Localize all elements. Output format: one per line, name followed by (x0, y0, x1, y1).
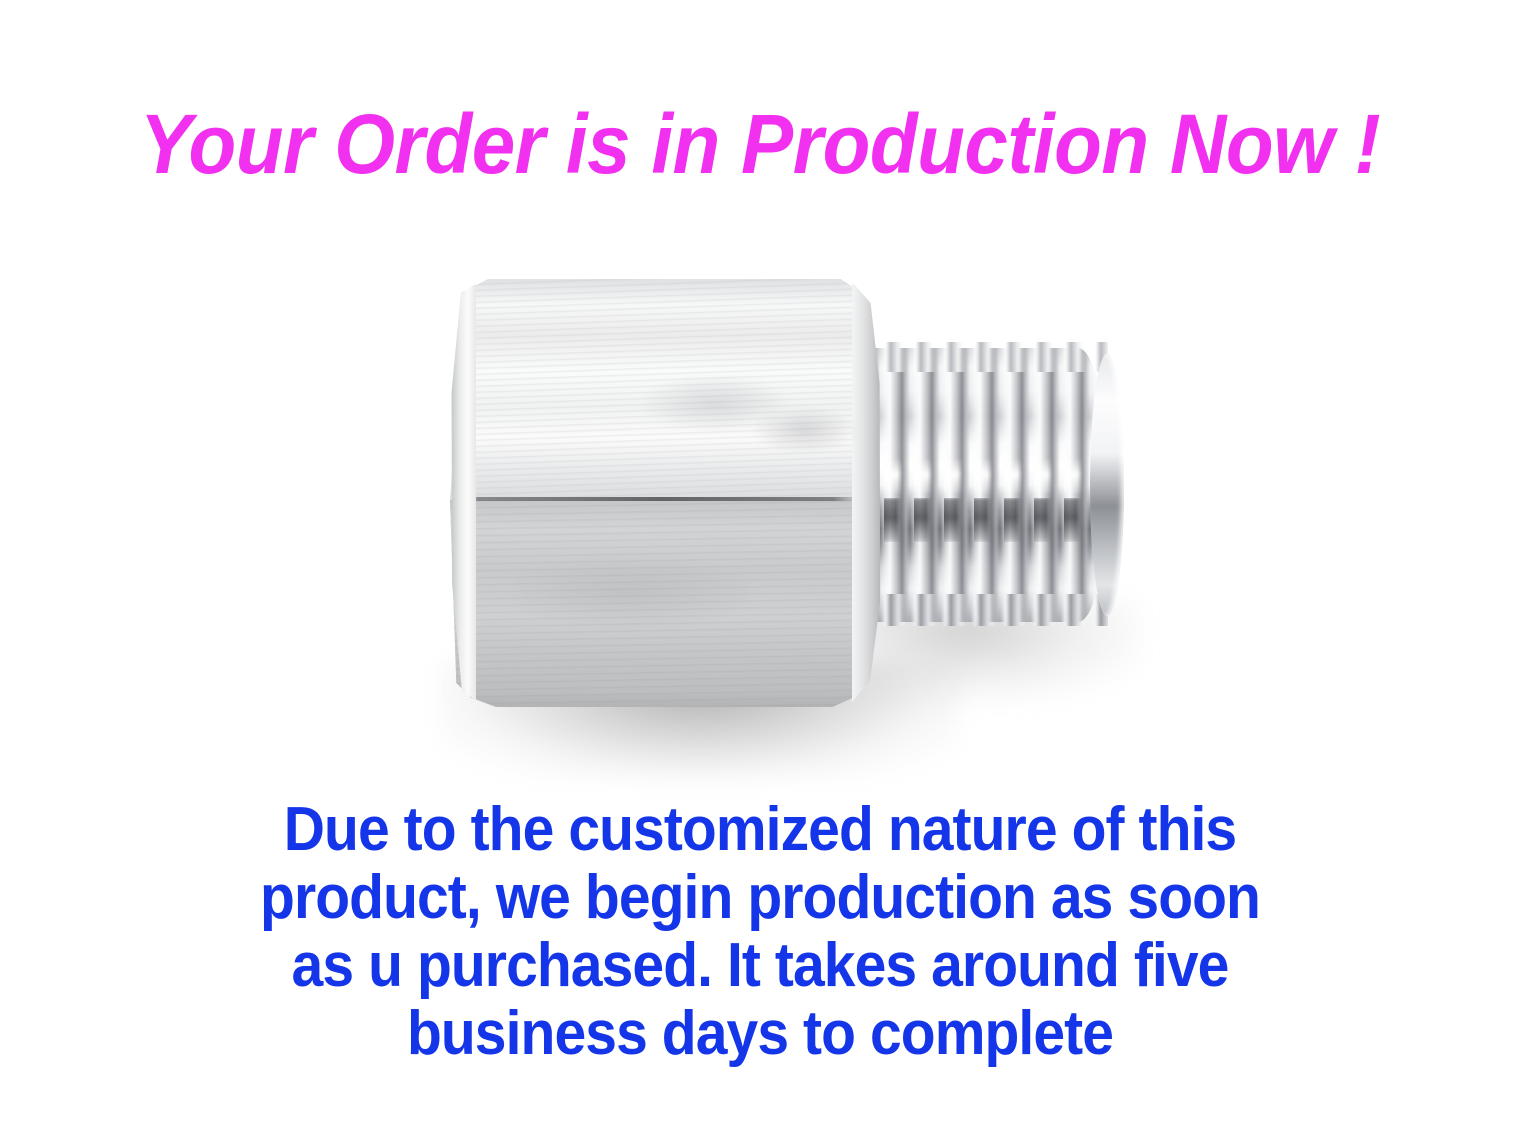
hex-left-chamfer (450, 284, 476, 700)
page-title: Your Order is in Production Now ! (53, 96, 1467, 192)
hex-facet-edge (454, 497, 866, 501)
notice-line: Due to the customized nature of this (61, 796, 1459, 864)
production-notice: Due to the customized nature of this pro… (61, 796, 1459, 1068)
notice-line: business days to complete (61, 1000, 1459, 1068)
hex-surface-scuff (750, 406, 860, 454)
thread-crest-bottom-edge (852, 594, 1108, 626)
thread-specular-highlight (854, 458, 1106, 494)
hex-surface-scuff (510, 558, 750, 628)
thread-end-face (1090, 354, 1124, 616)
notice-line: product, we begin production as soon (61, 864, 1459, 932)
hex-body (450, 278, 880, 708)
hex-right-shoulder (852, 282, 882, 702)
notice-line: as u purchased. It takes around five (61, 932, 1459, 1000)
product-photo (380, 240, 1180, 780)
thread-crest-top-edge (852, 342, 1108, 372)
threaded-nipple (850, 340, 1120, 630)
promo-banner: Your Order is in Production Now ! Due to… (0, 0, 1520, 1140)
thread-shadow-band (854, 498, 1106, 542)
